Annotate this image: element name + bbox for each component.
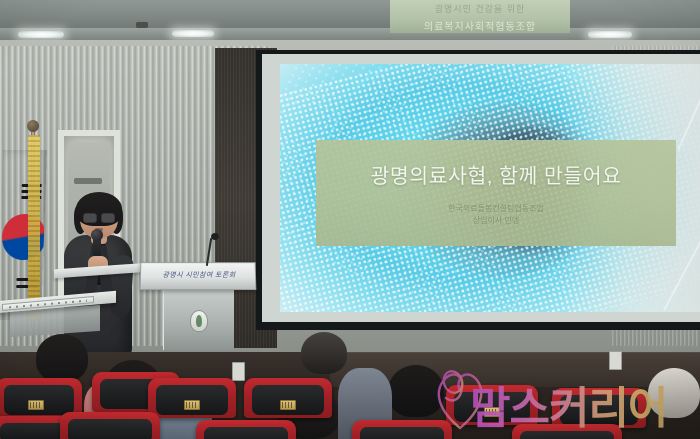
presentation-photo: 광명시민 건강을 위한 의료복지사회적협동조합 광명의료사협, 함께 만들어요 …	[0, 0, 700, 439]
glasses-lens-left	[83, 213, 97, 223]
slide-subtitle-org: 한국의료돌봄컨설팅협동조합	[448, 203, 544, 215]
wall-switch-plate	[609, 351, 622, 370]
slide-title-box: 광명의료사협, 함께 만들어요 한국의료돌봄컨설팅협동조합 상임이사 민앵	[316, 140, 676, 246]
seat-cushion	[68, 419, 152, 439]
flag-tassel	[28, 135, 40, 320]
ceiling-projector	[136, 22, 148, 28]
overhead-banner: 광명시민 건강을 위한 의료복지사회적협동조합	[390, 0, 570, 33]
overhead-banner-line1: 광명시민 건강을 위한	[396, 2, 564, 15]
seat-number-plate	[184, 400, 200, 410]
seat-number-plate	[280, 400, 296, 410]
microphone-head-icon	[91, 229, 103, 241]
auditorium-seat[interactable]	[244, 378, 332, 418]
auditorium-seat[interactable]	[148, 378, 236, 418]
slide-subtitle-role: 상임이사 민앵	[473, 215, 519, 227]
podium-mic-head-icon	[211, 233, 219, 240]
podium-nameplate: 광명시 시민참여 토론회	[141, 270, 257, 280]
ceiling-light	[18, 31, 64, 38]
door-hardware	[74, 178, 102, 184]
podium-emblem	[190, 310, 208, 332]
ceiling-light	[588, 31, 632, 38]
speaker-glasses	[83, 213, 115, 221]
audience-head	[36, 334, 88, 382]
overhead-banner-line2: 의료복지사회적협동조합	[396, 18, 564, 33]
ceiling-light	[172, 30, 214, 37]
seat-number-plate	[28, 400, 44, 410]
seat-cushion	[204, 427, 288, 439]
slide-title: 광명의료사협, 함께 만들어요	[371, 159, 622, 189]
auditorium-seat[interactable]	[60, 412, 160, 439]
wall-switch-plate	[232, 362, 245, 381]
auditorium-seat[interactable]	[196, 420, 296, 439]
watermark-text: 맘스커리어	[470, 372, 667, 436]
flag-finial	[27, 120, 39, 132]
audience-head	[301, 332, 347, 374]
podium-top: 광명시 시민참여 토론회	[140, 262, 257, 290]
glasses-lens-right	[101, 213, 115, 223]
